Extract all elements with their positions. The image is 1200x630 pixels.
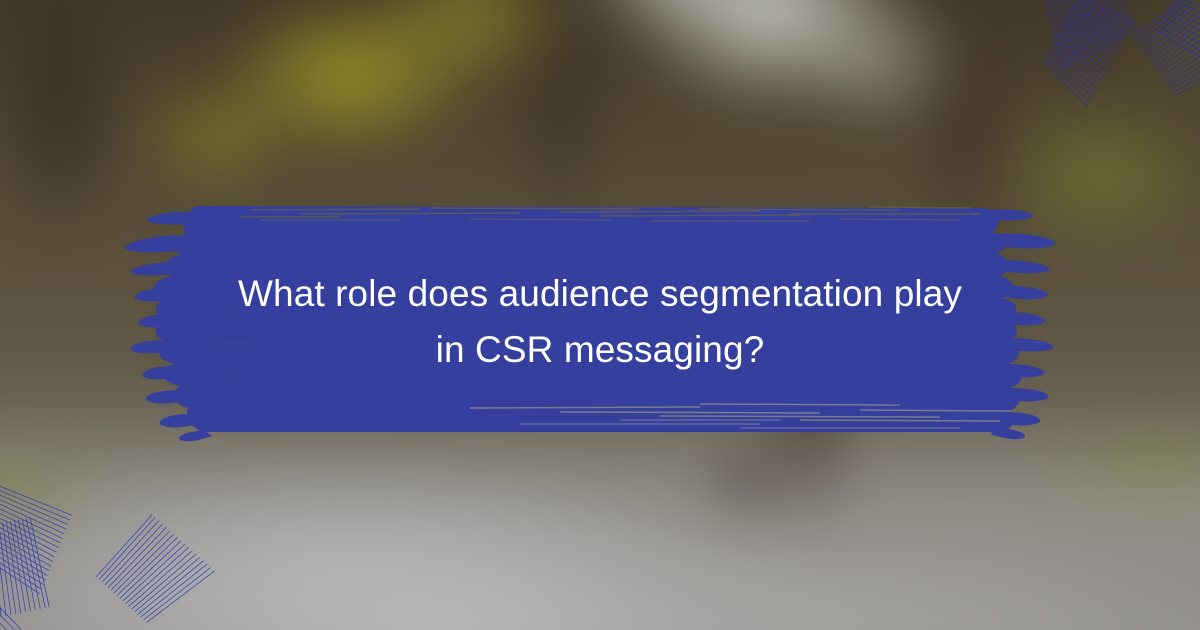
headline-banner: What role does audience segmentation pla… (0, 192, 1200, 448)
question-card: What role does audience segmentation pla… (0, 0, 1200, 630)
page-title: What role does audience segmentation pla… (0, 192, 1200, 448)
headline-line-2: in CSR messaging? (436, 322, 765, 378)
headline-line-1: What role does audience segmentation pla… (238, 266, 962, 322)
